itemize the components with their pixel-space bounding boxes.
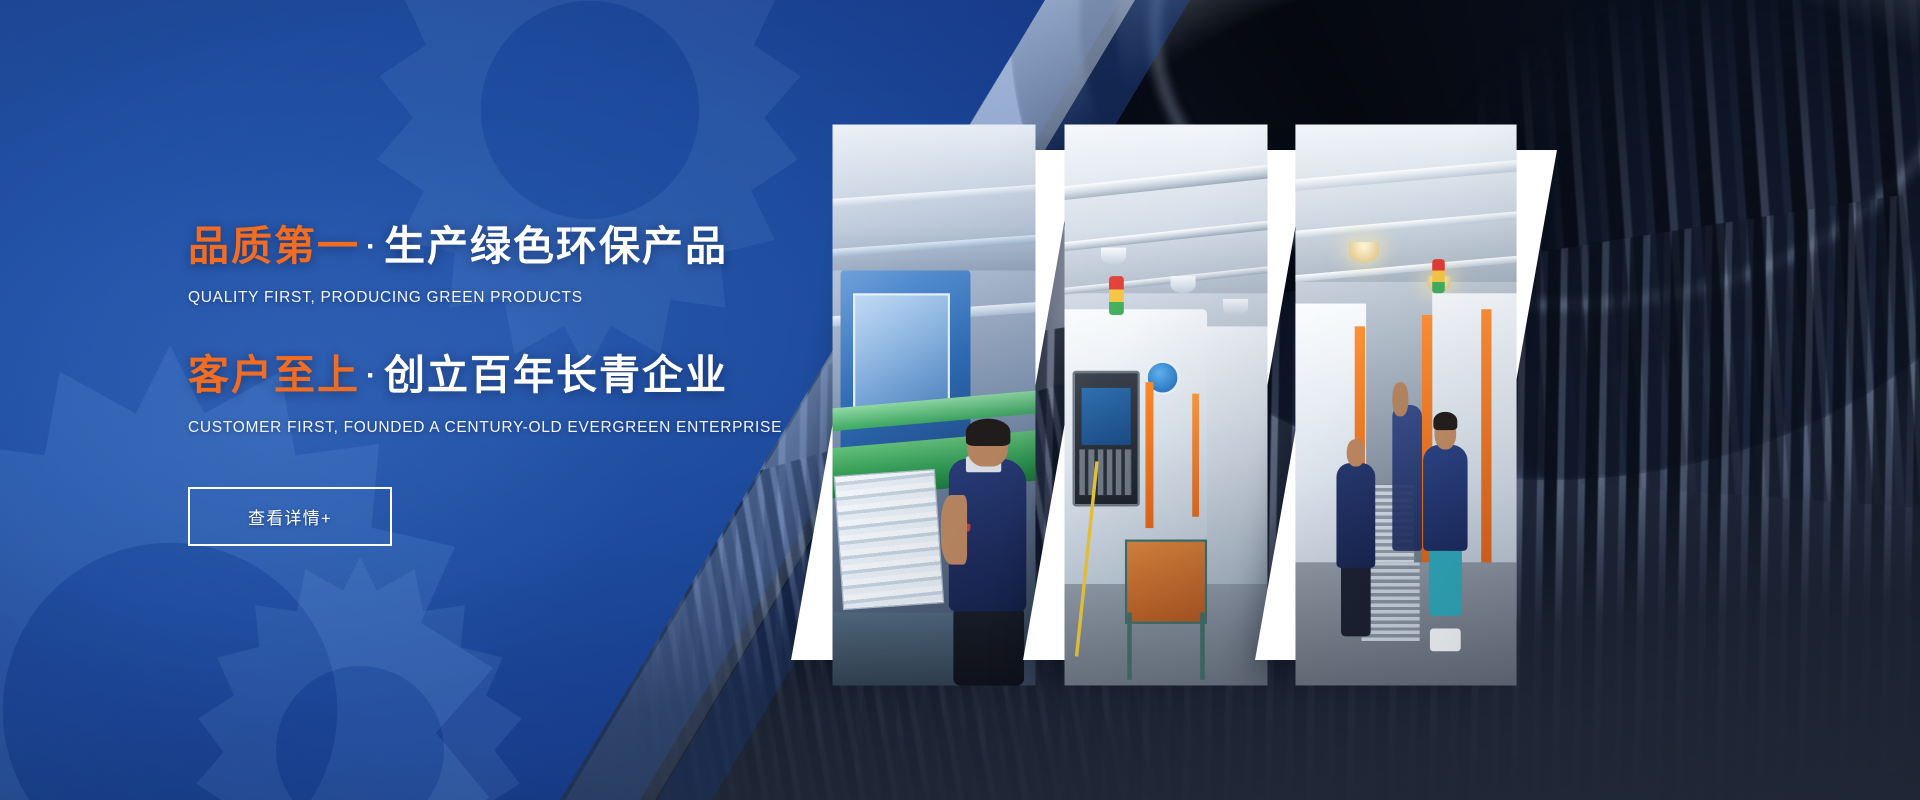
subtitle-secondary: CUSTOMER FIRST, FOUNDED A CENTURY-OLD EV… — [188, 419, 848, 437]
photo-image-production-aisle — [1295, 125, 1516, 686]
headline-secondary-rest: 创立百年长青企业 — [384, 352, 728, 398]
headline-primary-separator: · — [360, 230, 384, 263]
headline-primary-accent: 品质第一 — [188, 223, 360, 269]
photo-image-cnc-machines — [1065, 125, 1268, 686]
headline-secondary-separator: · — [360, 359, 384, 392]
subtitle-primary: QUALITY FIRST, PRODUCING GREEN PRODUCTS — [188, 289, 848, 307]
headline-primary-rest: 生产绿色环保产品 — [384, 223, 728, 269]
headline-secondary-accent: 客户至上 — [188, 352, 360, 398]
view-details-button[interactable]: 查看详情+ — [188, 487, 392, 546]
headline-primary: 品质第一·生产绿色环保产品 — [188, 222, 848, 270]
headline-secondary: 客户至上·创立百年长青企业 — [188, 351, 848, 399]
photo-card-cnc-machines[interactable] — [1023, 150, 1309, 660]
photo-card-production-aisle[interactable] — [1255, 150, 1557, 660]
photo-image-assembly-line — [833, 125, 1036, 686]
hero-text-block: 品质第一·生产绿色环保产品 QUALITY FIRST, PRODUCING G… — [188, 222, 848, 546]
hero-banner: 品质第一·生产绿色环保产品 QUALITY FIRST, PRODUCING G… — [0, 0, 1920, 800]
